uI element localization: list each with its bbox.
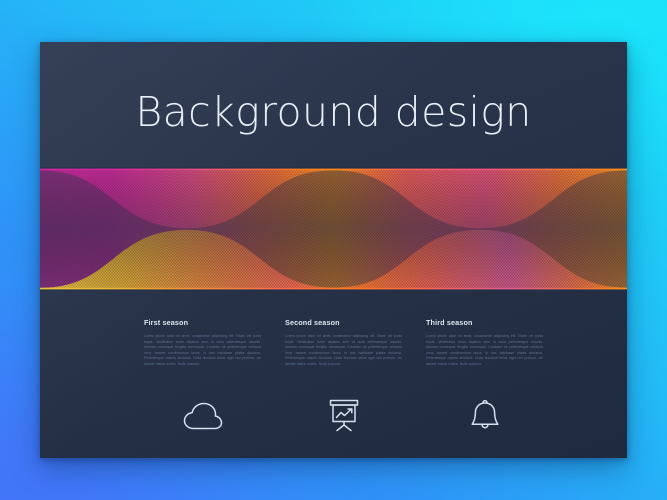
icon-cell-third-season: [426, 394, 543, 438]
column-heading: Third season: [426, 318, 543, 327]
column-body-text: Lorem ipsum dolor sit amet, consectetur …: [426, 334, 543, 368]
presentation-chart-icon: [326, 398, 362, 434]
icon-cell-second-season: [285, 394, 402, 438]
season-columns: First season Lorem ipsum dolor sit amet,…: [144, 318, 544, 368]
column-first-season: First season Lorem ipsum dolor sit amet,…: [144, 318, 261, 368]
bell-icon: [469, 398, 501, 434]
column-body-text: Lorem ipsum dolor sit amet, consectetur …: [144, 334, 261, 368]
column-second-season: Second season Lorem ipsum dolor sit amet…: [285, 318, 402, 368]
poster-stage: Background design: [0, 0, 667, 500]
column-third-season: Third season Lorem ipsum dolor sit amet,…: [426, 318, 543, 368]
wave-graphic: [40, 167, 627, 291]
icon-row: [144, 394, 544, 438]
page-title: Background design: [40, 88, 627, 136]
column-body-text: Lorem ipsum dolor sit amet, consectetur …: [285, 334, 402, 368]
column-heading: Second season: [285, 318, 402, 327]
column-heading: First season: [144, 318, 261, 327]
icon-cell-first-season: [144, 394, 261, 438]
poster-card: Background design: [40, 42, 627, 458]
cloud-icon: [182, 401, 224, 431]
